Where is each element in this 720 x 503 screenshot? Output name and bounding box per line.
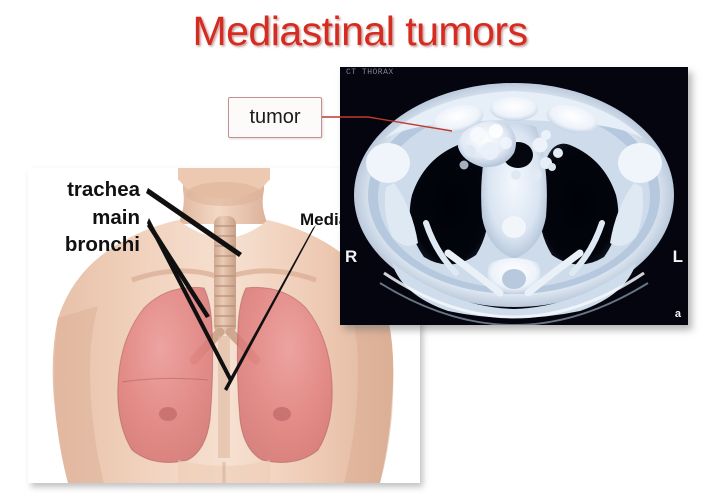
ct-scan-image: CT THORAX R L a (340, 67, 688, 325)
page-title: Mediastinal tumors (0, 8, 720, 55)
slide-canvas: Mediastinal tumors (0, 0, 720, 503)
axial-chest-ct-art (340, 67, 688, 325)
ct-header-text: CT THORAX (346, 68, 394, 77)
label-bronchi: bronchi (36, 231, 140, 259)
tumor-callout-label: tumor (249, 106, 300, 129)
label-main: main (36, 204, 140, 232)
anatomy-label-group: trachea main bronchi (36, 176, 140, 259)
label-mediastinum: Media (300, 210, 340, 230)
ct-orientation-marker-right: R (345, 247, 357, 267)
label-trachea: trachea (36, 176, 140, 204)
ct-orientation-marker-left: L (673, 247, 683, 267)
ct-panel-letter: a (675, 308, 681, 320)
tumor-callout-box[interactable]: tumor (228, 97, 322, 138)
